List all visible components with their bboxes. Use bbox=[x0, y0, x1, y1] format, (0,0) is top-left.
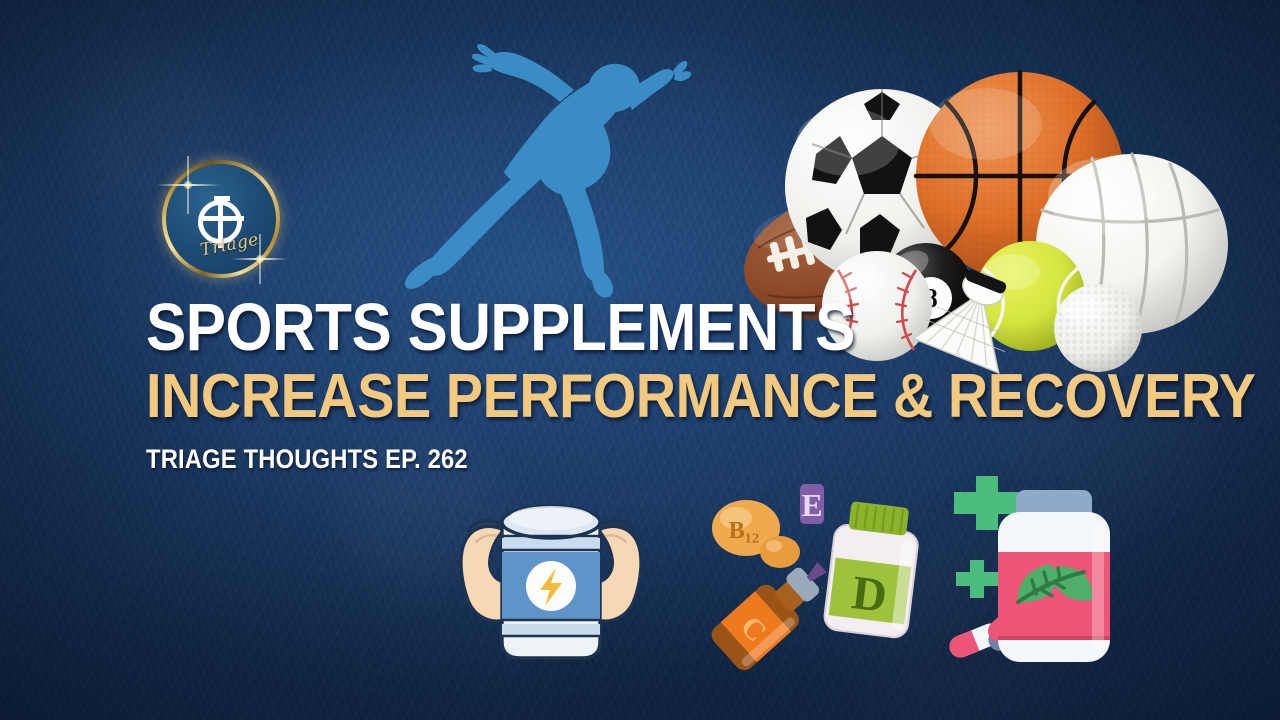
triage-logo: Triage bbox=[148, 152, 288, 284]
protein-tub bbox=[502, 506, 600, 658]
headline-primary: SPORTS SUPPLEMENTS bbox=[146, 296, 1255, 360]
protein-tub-with-flexing-arms bbox=[446, 486, 656, 664]
vitamin-group: E B₁₂ D bbox=[700, 480, 950, 672]
headline-secondary: INCREASE PERFORMANCE & RECOVERY bbox=[146, 366, 1255, 428]
thumbnail-canvas: Triage bbox=[0, 0, 1280, 720]
vitamin-d-bottle: D bbox=[823, 500, 922, 639]
title-block: SPORTS SUPPLEMENTS INCREASE PERFORMANCE … bbox=[146, 296, 1280, 475]
vitamin-e-label: E bbox=[801, 487, 822, 523]
vitamin-b12-capsules: B₁₂ bbox=[712, 500, 800, 568]
flexing-arm-right bbox=[598, 521, 641, 621]
vitamin-d-label: D bbox=[849, 566, 890, 623]
plus-icon bbox=[956, 560, 998, 598]
herbal-supplement-bottle bbox=[932, 468, 1176, 672]
letter-e-capsule: E bbox=[800, 484, 824, 524]
flexing-arm-left bbox=[461, 521, 504, 621]
supplement-bottle bbox=[998, 490, 1110, 662]
vitamin-b12-label: B₁₂ bbox=[729, 518, 759, 544]
sprinting-athlete-silhouette bbox=[392, 30, 696, 302]
